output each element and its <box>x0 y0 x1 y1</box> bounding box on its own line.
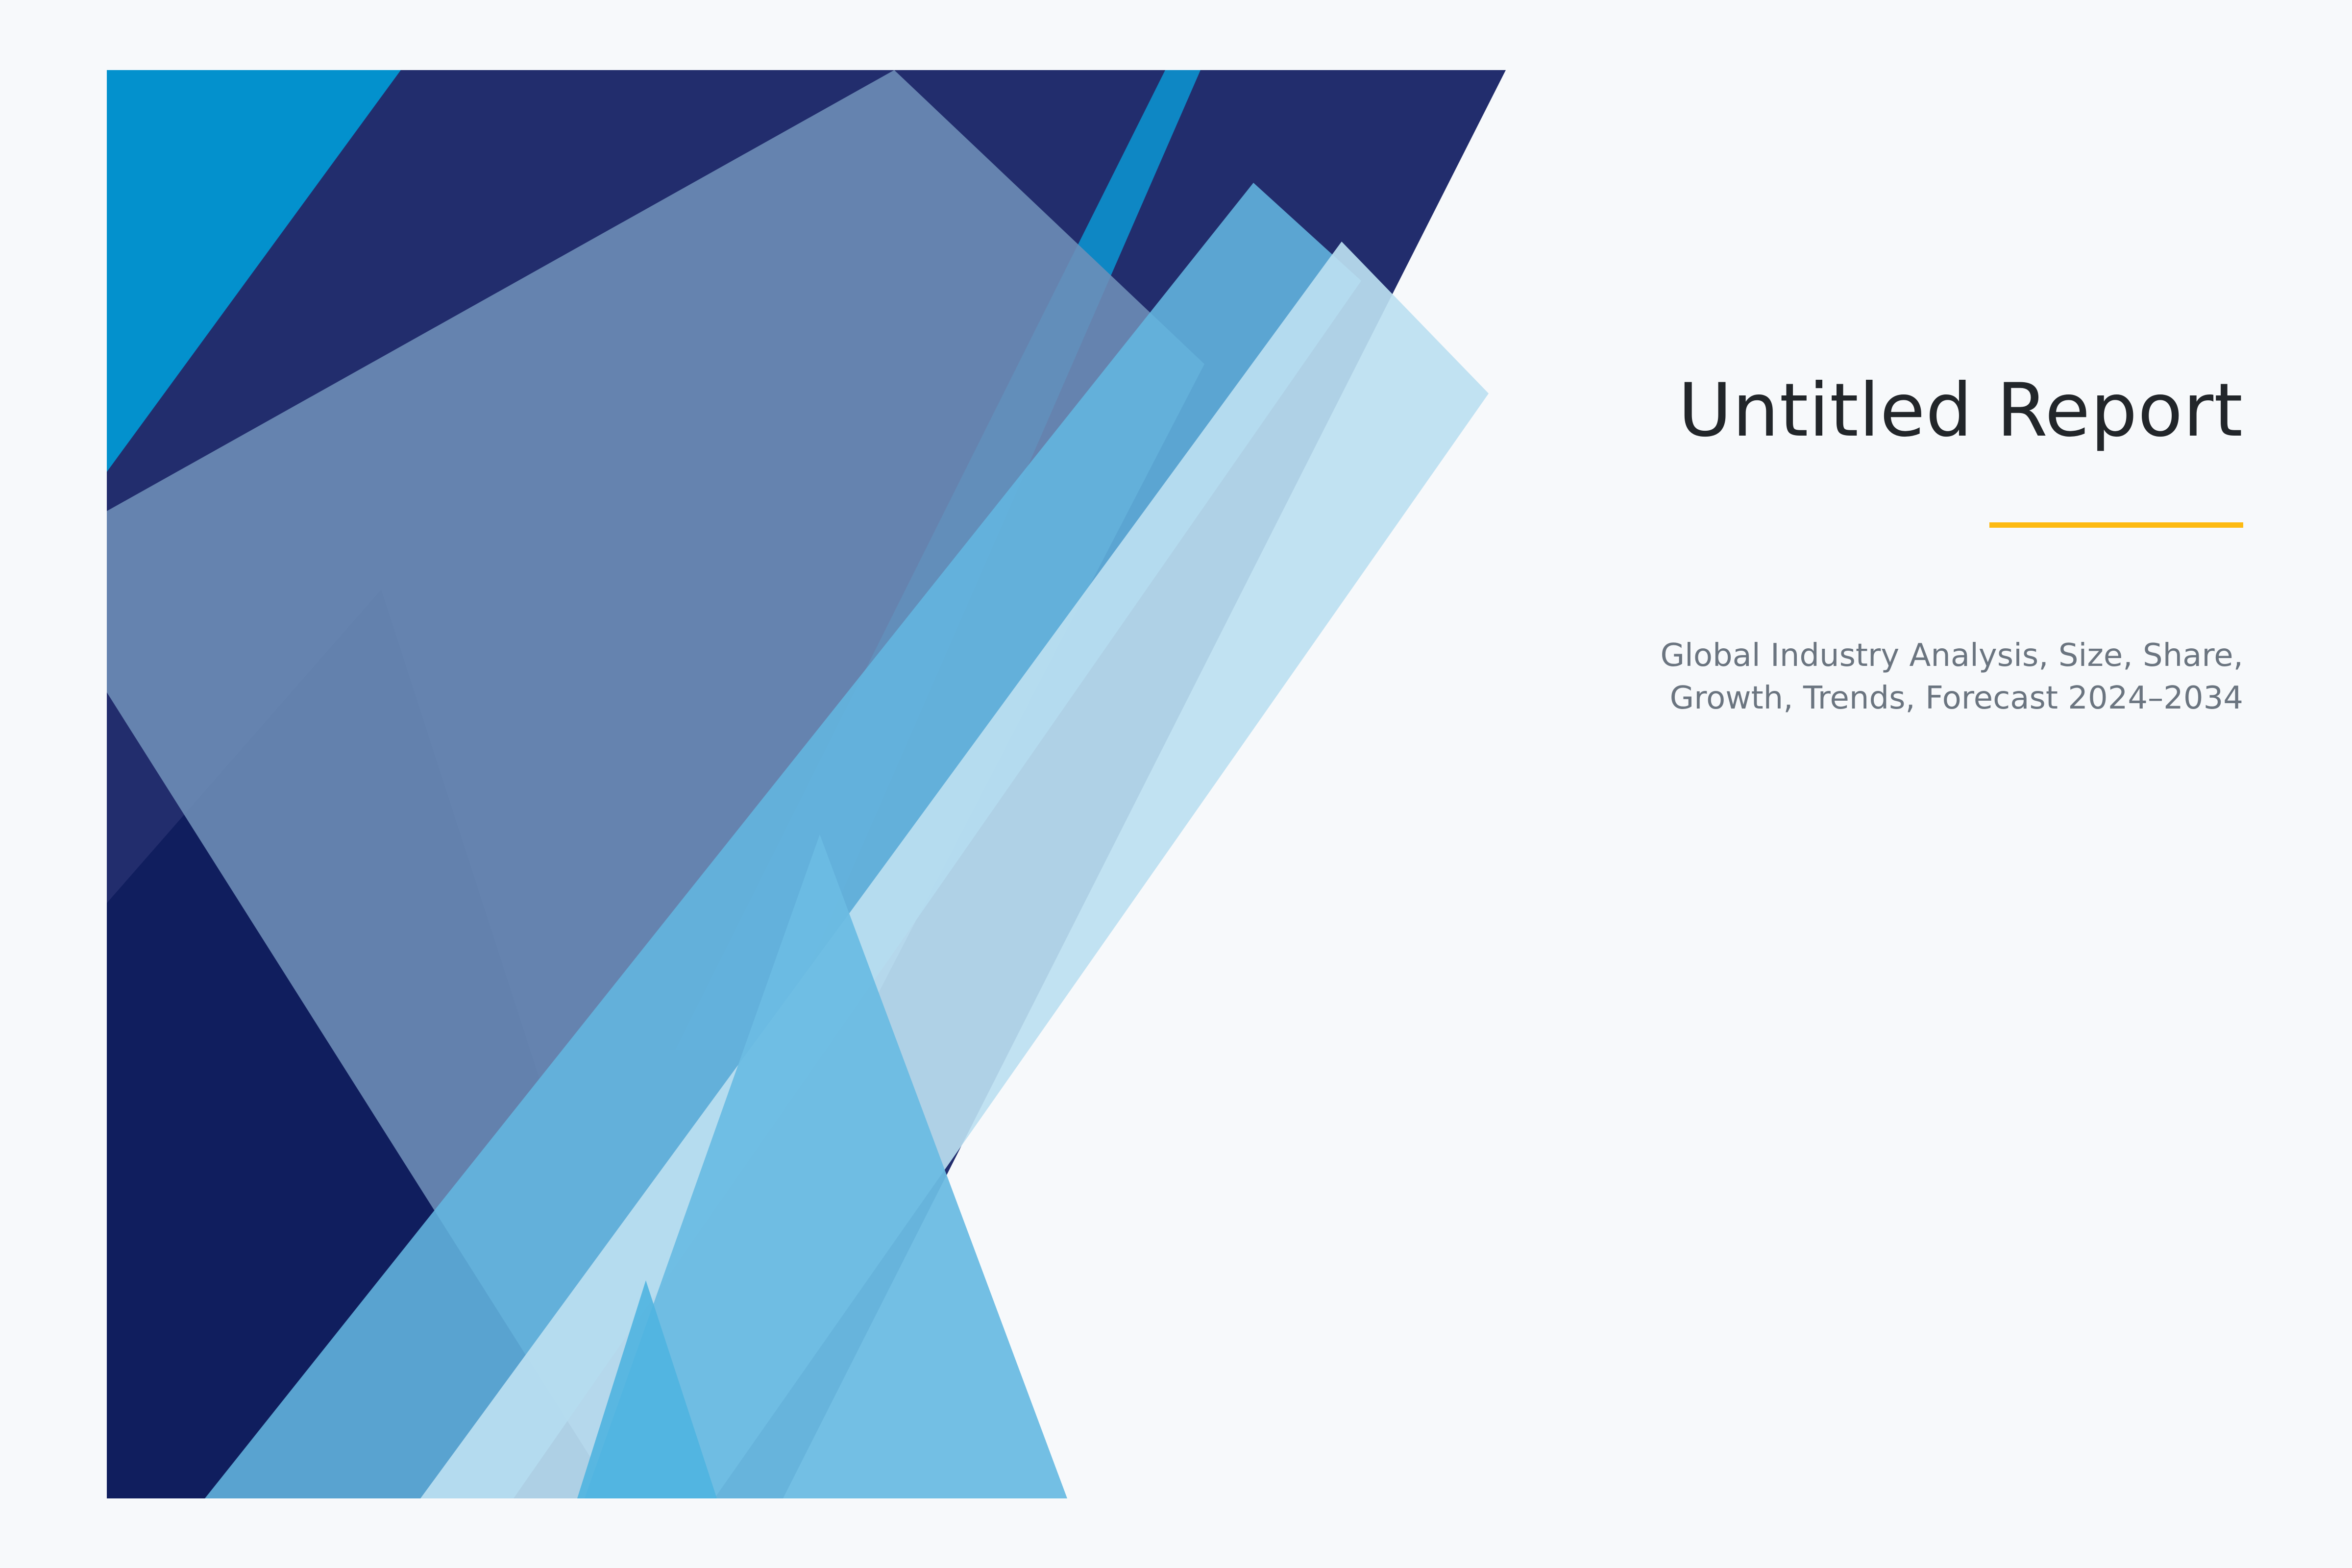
report-subtitle-line-1: Global Industry Analysis, Size, Share, <box>1519 635 2243 677</box>
page-title: Untitled Report <box>1519 372 2243 450</box>
accent-rule <box>1989 522 2243 528</box>
report-subtitle: Global Industry Analysis, Size, Share, G… <box>1519 635 2243 720</box>
cover-text-block: Untitled Report Global Industry Analysis… <box>1519 372 2243 720</box>
report-cover-page: Untitled Report Global Industry Analysis… <box>0 0 2352 1568</box>
abstract-geometric-cover-art <box>107 70 1506 1498</box>
accent-rule-container <box>1519 522 2243 528</box>
report-subtitle-line-2: Growth, Trends, Forecast 2024–2034 <box>1519 677 2243 720</box>
